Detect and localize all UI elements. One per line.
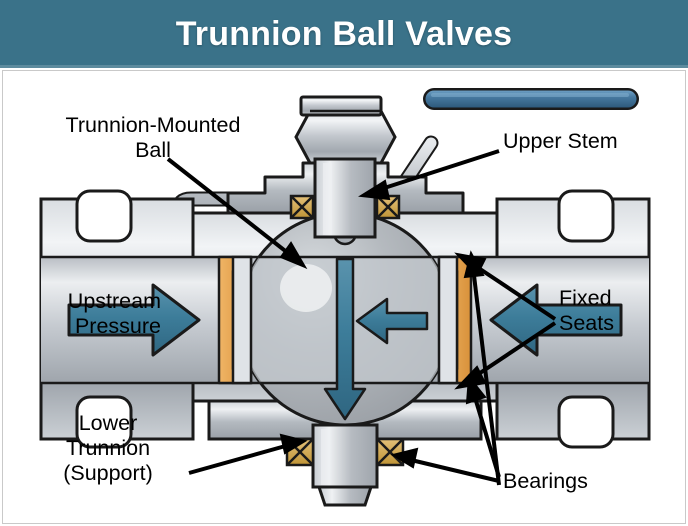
label-upper-stem: Upper Stem	[503, 129, 618, 154]
label-bearings: Bearings	[503, 469, 588, 494]
page-root: Trunnion Ball Valves	[0, 0, 688, 526]
page-title: Trunnion Ball Valves	[176, 15, 513, 54]
label-upstream-pressure: Upstream Pressure	[21, 289, 161, 339]
title-bar: Trunnion Ball Valves	[0, 0, 688, 68]
label-trunnion-mounted-ball: Trunnion-Mounted Ball	[43, 113, 263, 163]
hex-nut	[296, 97, 395, 163]
upper-stem	[315, 159, 375, 237]
diagram-frame: Trunnion-Mounted Ball Upper Stem Upstrea…	[2, 70, 686, 524]
handle-grip	[423, 88, 639, 110]
fixed-seat-upstream	[219, 257, 251, 383]
label-lower-trunnion-support: Lower Trunnion (Support)	[33, 411, 183, 486]
lower-trunnion	[313, 425, 377, 505]
ball-highlight	[280, 264, 332, 312]
stem-bearing-left	[291, 196, 313, 218]
label-fixed-seats: Fixed Seats	[559, 286, 614, 336]
trunnion-bearing-right	[377, 439, 403, 465]
